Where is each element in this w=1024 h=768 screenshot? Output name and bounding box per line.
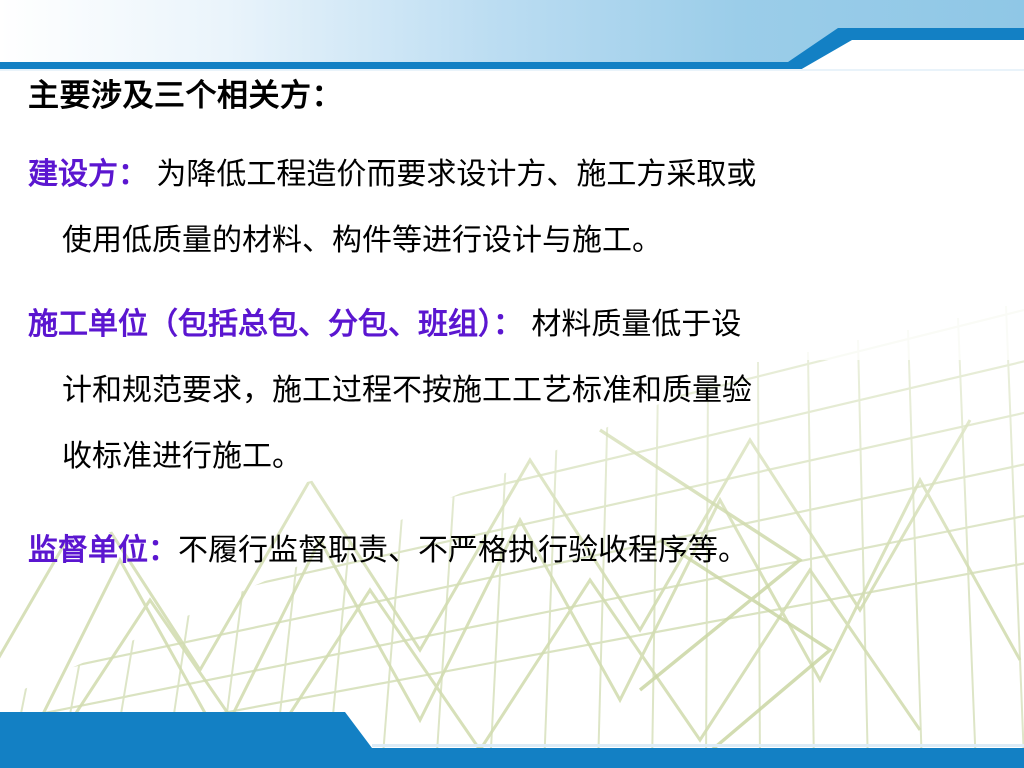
paragraph-contractor: 施工单位（包括总包、分包、班组）： 材料质量低于设 计和规范要求，施工过程不按施…: [28, 292, 996, 496]
paragraph-contractor-line2: 计和规范要求，施工过程不按施工工艺标准和质量验: [28, 358, 996, 424]
page-title: 主要涉及三个相关方：: [28, 70, 343, 115]
paragraph-contractor-line1: 材料质量低于设: [523, 308, 741, 341]
paragraph-supervisor-label: 监督单位：: [28, 534, 178, 567]
paragraph-contractor-line3: 收标准进行施工。: [28, 424, 996, 490]
slide-content: 主要涉及三个相关方： 建设方： 为降低工程造价而要求设计方、施工方采取或 使用低…: [0, 0, 1024, 768]
paragraph-builder-text: 建设方： 为降低工程造价而要求设计方、施工方采取或 使用低质量的材料、构件等进行…: [28, 142, 996, 274]
paragraph-builder: 建设方： 为降低工程造价而要求设计方、施工方采取或 使用低质量的材料、构件等进行…: [28, 142, 996, 280]
paragraph-supervisor-text: 监督单位：不履行监督职责、不严格执行验收程序等。: [28, 518, 996, 584]
slide-canvas: 主要涉及三个相关方： 建设方： 为降低工程造价而要求设计方、施工方采取或 使用低…: [0, 0, 1024, 768]
paragraph-builder-line1: 为降低工程造价而要求设计方、施工方采取或: [148, 158, 756, 191]
paragraph-builder-label: 建设方：: [28, 158, 148, 191]
paragraph-builder-line2: 使用低质量的材料、构件等进行设计与施工。: [28, 208, 996, 274]
paragraph-supervisor-line1: 不履行监督职责、不严格执行验收程序等。: [178, 534, 748, 567]
paragraph-contractor-text: 施工单位（包括总包、分包、班组）： 材料质量低于设 计和规范要求，施工过程不按施…: [28, 292, 996, 490]
paragraph-supervisor: 监督单位：不履行监督职责、不严格执行验收程序等。: [28, 518, 996, 590]
paragraph-contractor-label: 施工单位（包括总包、分包、班组）：: [28, 308, 523, 341]
